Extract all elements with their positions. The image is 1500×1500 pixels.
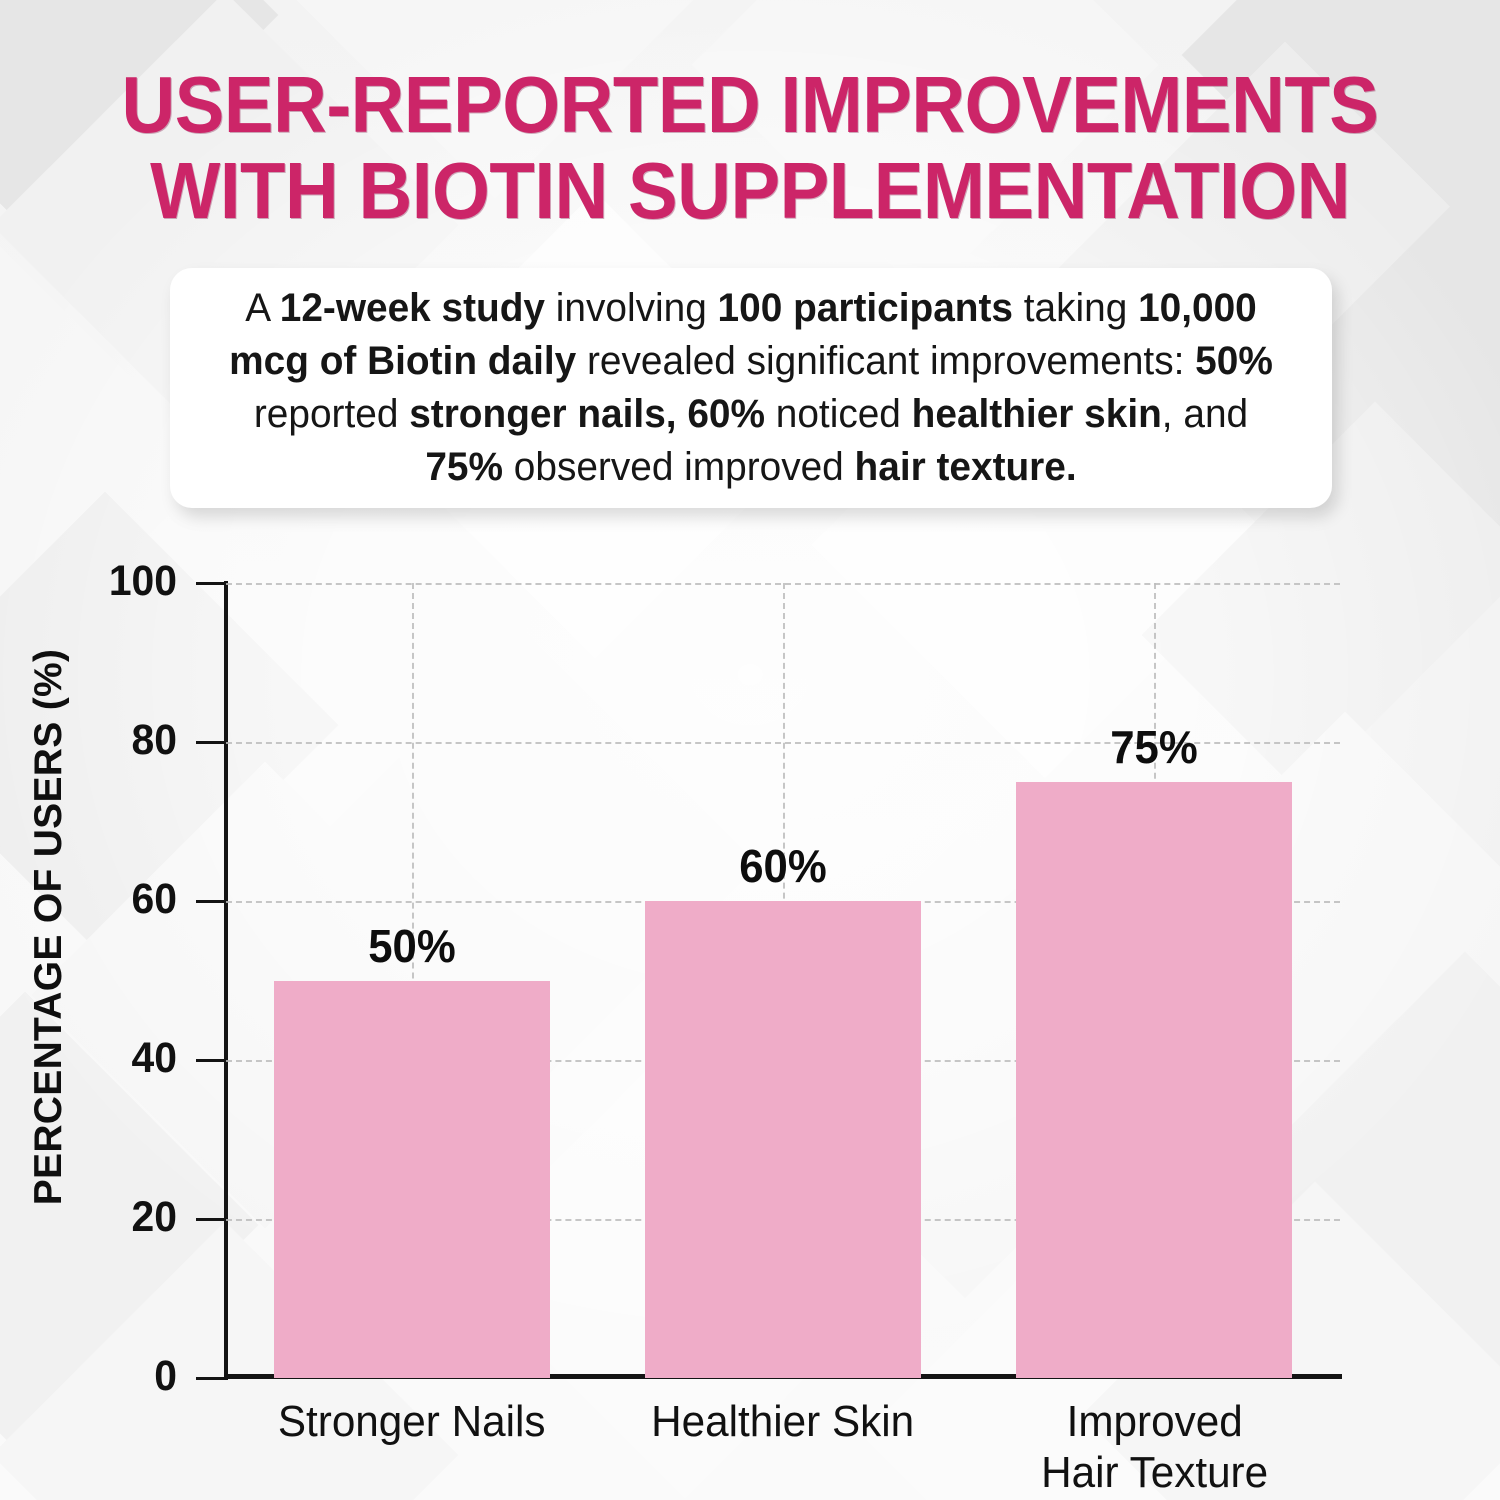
y-axis-tick	[196, 900, 226, 903]
x-axis-tick-label: Stronger Nails	[205, 1396, 619, 1447]
bar-value-label: 75%	[1023, 720, 1285, 774]
y-axis-tick-label: 60	[63, 875, 177, 924]
bar-value-label: 50%	[281, 919, 543, 973]
y-axis-tick-label: 80	[63, 716, 177, 765]
page-title-line-1: USER-REPORTED IMPROVEMENTS	[53, 62, 1448, 148]
y-axis-title: PERCENTAGE OF USERS (%)	[27, 607, 71, 1247]
x-axis-tick-label-line: Improved	[947, 1396, 1361, 1447]
infographic-canvas: USER-REPORTED IMPROVEMENTS WITH BIOTIN S…	[0, 0, 1500, 1500]
y-axis-tick-label: 20	[63, 1193, 177, 1242]
bar[interactable]	[645, 901, 921, 1378]
summary-card-text: A 12-week study involving 100 participan…	[187, 282, 1314, 494]
x-axis-tick-label-line: Healthier Skin	[576, 1396, 990, 1447]
y-axis-tick	[196, 582, 226, 585]
y-axis-tick-label: 40	[63, 1034, 177, 1083]
y-axis-tick	[196, 1377, 226, 1380]
bar[interactable]	[1016, 782, 1292, 1378]
summary-card: A 12-week study involving 100 participan…	[170, 268, 1332, 508]
y-axis-tick	[196, 1059, 226, 1062]
y-axis-tick	[196, 741, 226, 744]
x-axis-tick-label: ImprovedHair Texture	[947, 1396, 1361, 1498]
bar-value-label: 60%	[652, 839, 914, 893]
page-title: USER-REPORTED IMPROVEMENTS WITH BIOTIN S…	[0, 62, 1500, 234]
x-axis-tick-label: Healthier Skin	[576, 1396, 990, 1447]
y-axis-tick-label: 100	[63, 557, 177, 606]
y-axis-tick	[196, 1218, 226, 1221]
x-axis-tick-label-line: Hair Texture	[947, 1447, 1361, 1498]
plot-area	[226, 583, 1340, 1378]
y-axis-tick-label: 0	[63, 1352, 177, 1401]
bar[interactable]	[274, 981, 550, 1379]
page-title-line-2: WITH BIOTIN SUPPLEMENTATION	[53, 148, 1448, 234]
x-axis-tick-label-line: Stronger Nails	[205, 1396, 619, 1447]
